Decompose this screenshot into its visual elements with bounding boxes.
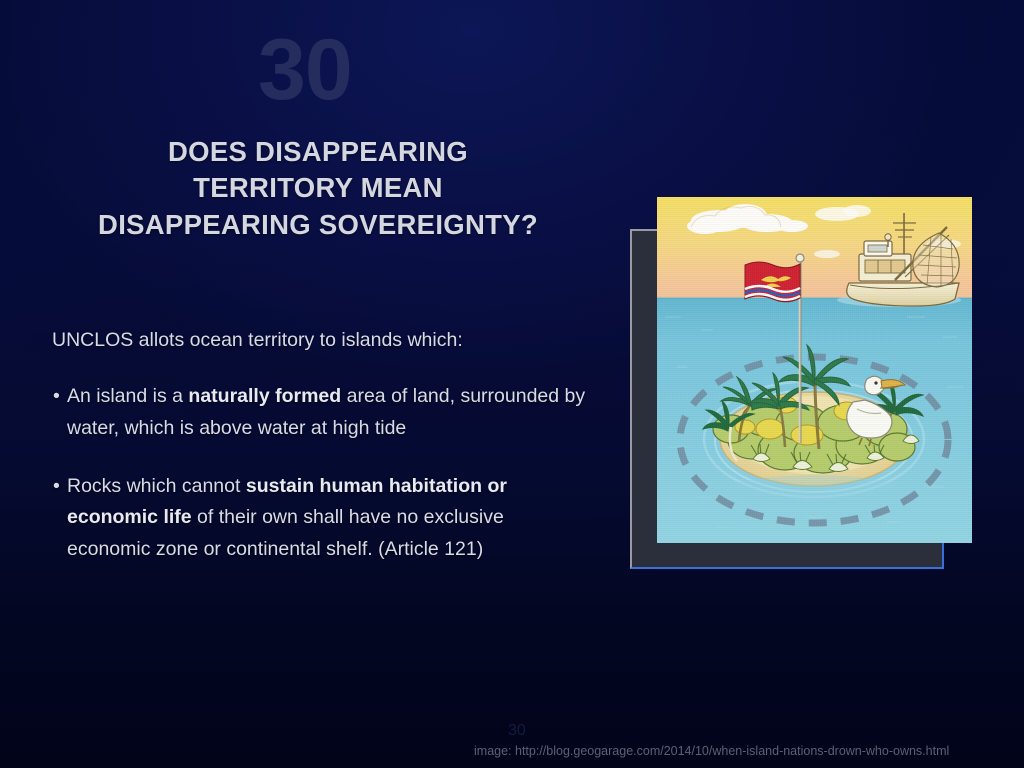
bullet-item-1-text: An island is a naturally formed area of … [67, 385, 585, 439]
bullet-item-1: • An island is a naturally formed area o… [52, 381, 592, 444]
bullet-glyph: • [53, 471, 60, 503]
slide-number-watermark: 30 [258, 27, 352, 113]
page-number: 30 [508, 722, 526, 740]
lead-paragraph: UNCLOS allots ocean territory to islands… [52, 328, 592, 353]
body-content: UNCLOS allots ocean territory to islands… [52, 328, 592, 565]
bullet-item-2: • Rocks which cannot sustain human habit… [52, 471, 592, 566]
island-illustration [657, 197, 972, 543]
run-text: Rocks which cannot [67, 475, 246, 497]
page-title: DOES DISAPPEARING TERRITORY MEAN DISAPPE… [44, 134, 592, 243]
title-line-2: TERRITORY MEAN [44, 170, 592, 206]
title-line-1: DOES DISAPPEARING [44, 134, 592, 170]
bullet-glyph: • [53, 381, 60, 413]
kiribati-flag [745, 262, 800, 302]
title-line-3: DISAPPEARING SOVEREIGNTY? [44, 207, 592, 243]
slide-30: 30 DOES DISAPPEARING TERRITORY MEAN DISA… [0, 0, 1024, 768]
image-credit: image: http://blog.geogarage.com/2014/10… [474, 744, 949, 758]
emphasis-text: naturally formed [188, 385, 341, 407]
run-text: An island is a [67, 385, 188, 407]
bullet-item-2-text: Rocks which cannot sustain human habitat… [67, 475, 507, 560]
